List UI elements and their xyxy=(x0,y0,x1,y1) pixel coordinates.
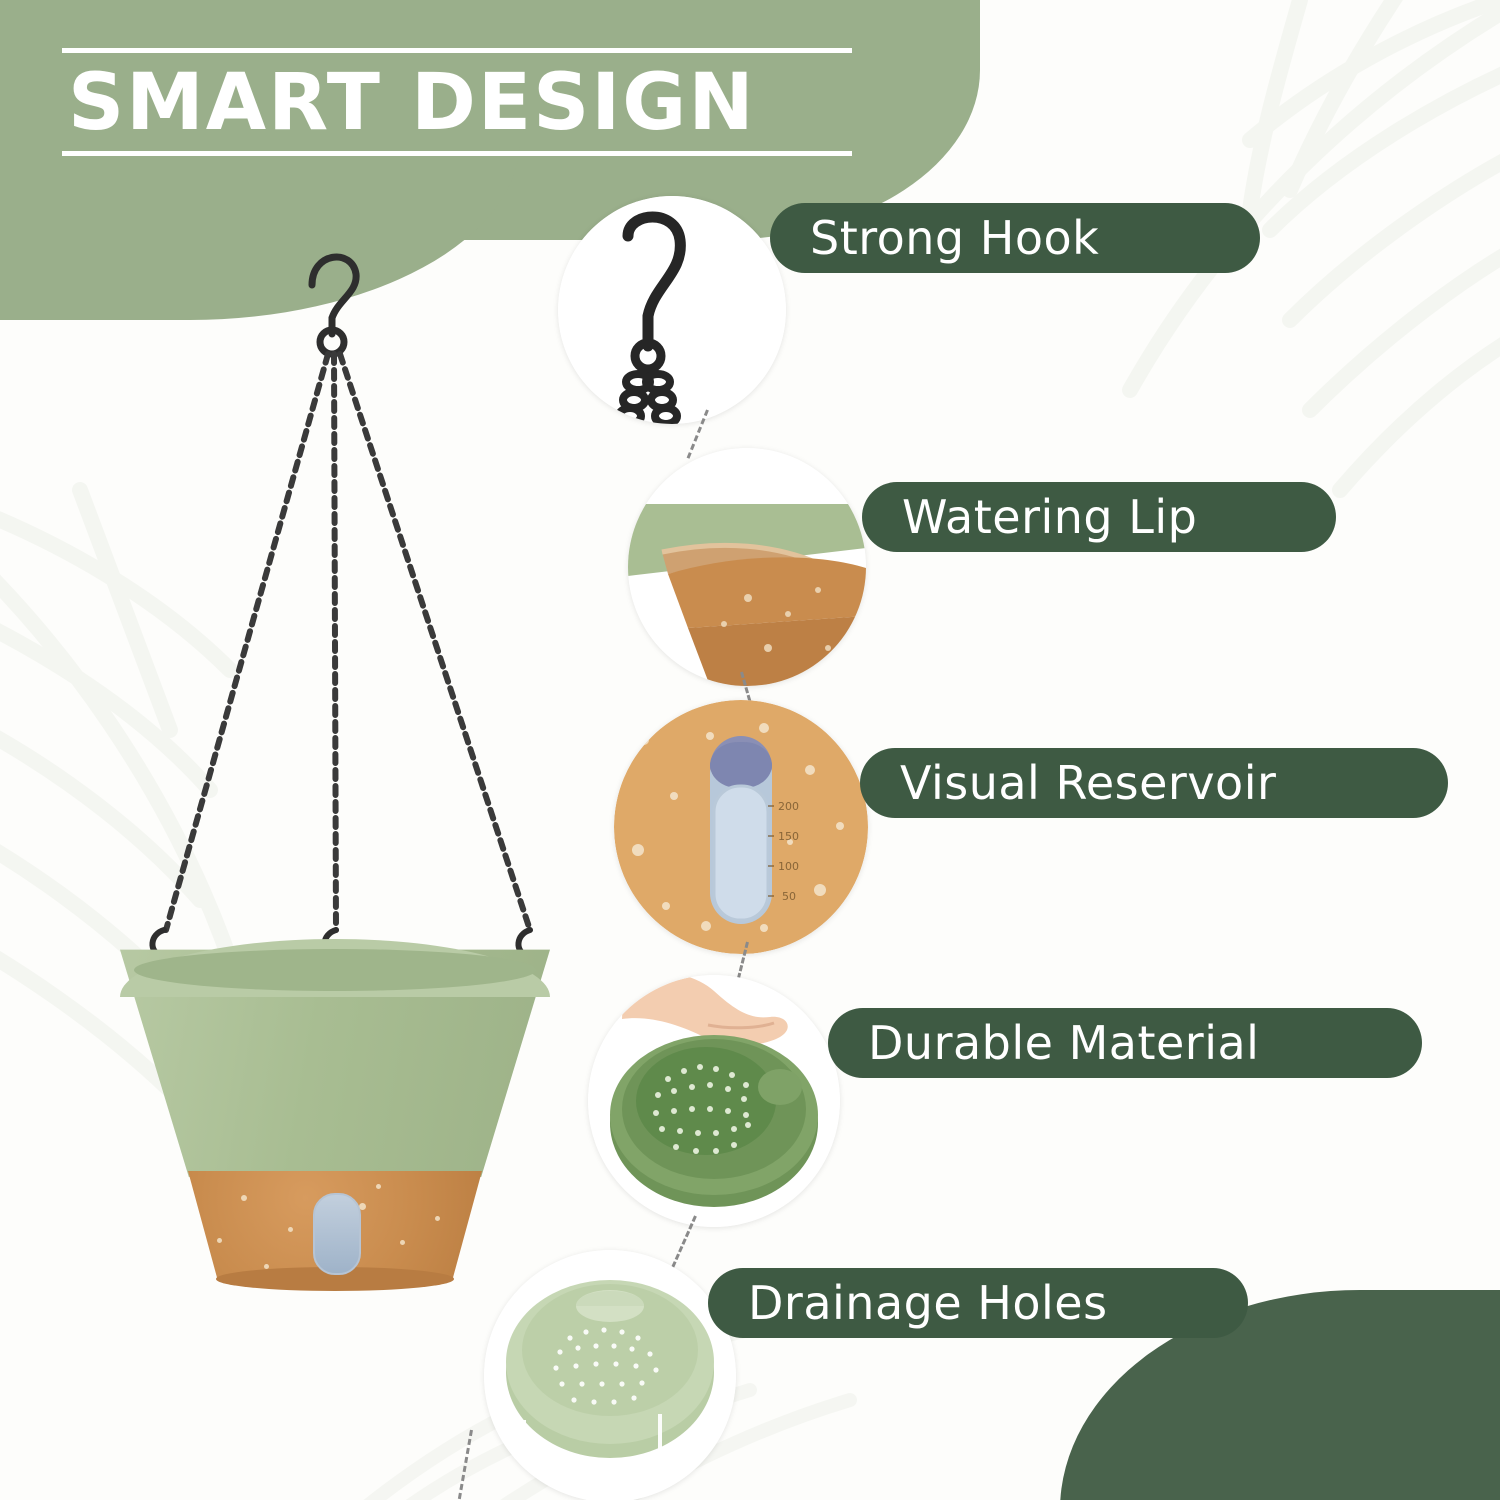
lip-icon xyxy=(628,448,866,686)
label-durable-material-text: Durable Material xyxy=(868,1016,1259,1070)
callout-visual-reservoir: 200 150 100 50 xyxy=(614,700,868,954)
label-watering-lip: Watering Lip xyxy=(862,482,1336,552)
pot-rim-inner xyxy=(134,949,536,991)
svg-text:100: 100 xyxy=(778,860,799,873)
callout-durable-material xyxy=(588,975,840,1227)
label-watering-lip-text: Watering Lip xyxy=(902,490,1197,544)
callout-drainage-holes xyxy=(484,1250,736,1500)
hanging-planter xyxy=(60,230,620,1350)
page-title: SMART DESIGN xyxy=(62,48,852,156)
svg-text:150: 150 xyxy=(778,830,799,843)
svg-text:50: 50 xyxy=(782,890,796,903)
hook-icon xyxy=(558,196,786,424)
svg-text:200: 200 xyxy=(778,800,799,813)
callout-strong-hook xyxy=(558,196,786,424)
label-strong-hook-text: Strong Hook xyxy=(810,211,1099,265)
callout-watering-lip xyxy=(628,448,866,686)
label-visual-reservoir: Visual Reservoir xyxy=(860,748,1448,818)
planter-pot xyxy=(120,945,550,1275)
label-strong-hook: Strong Hook xyxy=(770,203,1260,273)
title-rule-bottom xyxy=(62,151,852,156)
reservoir-icon: 200 150 100 50 xyxy=(614,700,868,954)
title-rule-top xyxy=(62,48,852,53)
hand-disc-icon xyxy=(588,975,840,1227)
connector-drainage-tail xyxy=(458,1430,473,1499)
label-drainage-holes-text: Drainage Holes xyxy=(748,1276,1108,1330)
label-visual-reservoir-text: Visual Reservoir xyxy=(900,756,1276,810)
label-durable-material: Durable Material xyxy=(828,1008,1422,1078)
drain-disc-icon xyxy=(484,1250,736,1500)
water-level-window xyxy=(313,1193,361,1275)
label-drainage-holes: Drainage Holes xyxy=(708,1268,1248,1338)
title-text: SMART DESIGN xyxy=(68,61,852,145)
poster-canvas: SMART DESIGN xyxy=(0,0,1500,1500)
